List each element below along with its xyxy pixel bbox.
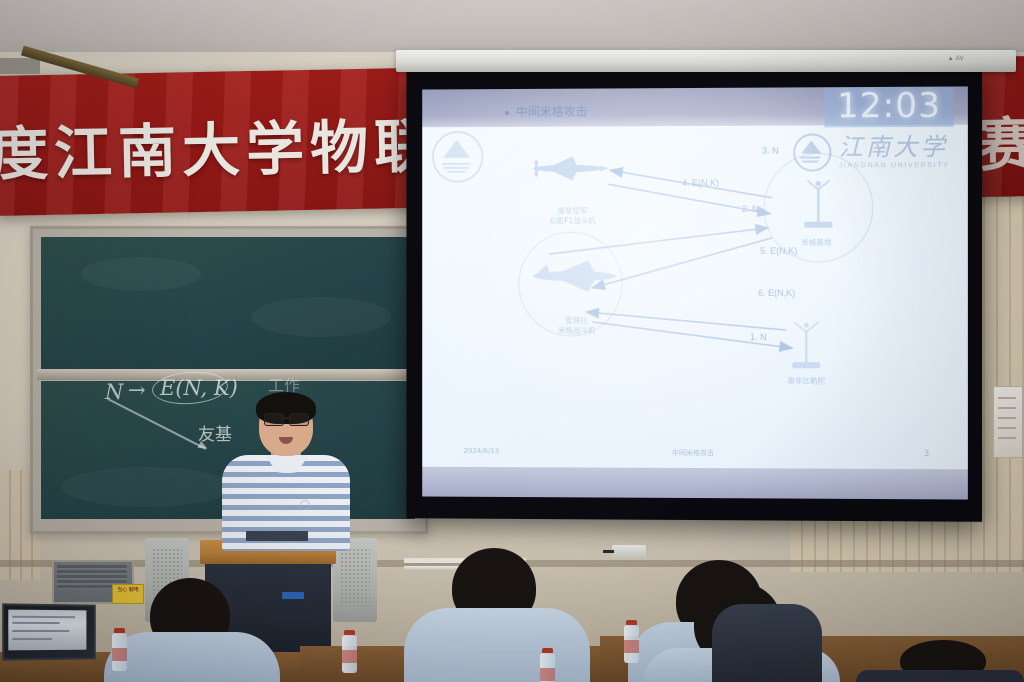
- edge-label-1: 1. N: [750, 332, 767, 342]
- slide-bottom-band: [422, 467, 968, 500]
- node-label-mig: 安哥拉 米格战斗机: [531, 316, 622, 336]
- node-label-tower-safaf: 南非比勒陀: [760, 376, 853, 386]
- university-name-en: JIANGNAN UNIVERSITY: [839, 162, 950, 169]
- slide-footer: 2024/6/13 中间米格攻击 3: [422, 447, 968, 465]
- blackboard-panel-top: [41, 237, 415, 369]
- slide-bullet-text: 中间米格攻击: [516, 105, 587, 119]
- wall-control-panel: [993, 386, 1023, 458]
- slide-footer-title: 中间米格攻击: [672, 448, 714, 458]
- slide-bullet-heading: 中间米格攻击: [505, 103, 587, 120]
- jiangnan-emblem-icon: [793, 133, 831, 171]
- slide-page-number: 3: [924, 449, 930, 459]
- warning-sign: 当心 触电: [112, 584, 144, 604]
- node-label-mirage: 南非空军 幻影F1战斗机: [527, 206, 618, 226]
- wall-mounted-device: [612, 545, 646, 558]
- housing-brand-icon: ▲ AV: [948, 56, 964, 62]
- podium-monitor[interactable]: [246, 531, 308, 541]
- projector-screen: 12:03 江南大学 JIANGNAN UNIVERSITY 中间米格攻击: [406, 66, 982, 522]
- projector-screen-housing: ▲ AV: [396, 50, 1016, 72]
- laptop-screen-content: [8, 610, 86, 651]
- audience-laptop[interactable]: [2, 603, 96, 660]
- slide-footer-date: 2024/6/13: [464, 447, 499, 455]
- banner-text-right-fragment: 赛: [977, 97, 1024, 182]
- jiangnan-emblem-icon: [432, 131, 483, 183]
- edge-label-2: 2. N: [742, 204, 759, 214]
- speaker-glasses-icon: [264, 413, 309, 424]
- node-label-tower-mig: 米格基地: [776, 238, 856, 248]
- projected-slide: 12:03 江南大学 JIANGNAN UNIVERSITY 中间米格攻击: [422, 86, 968, 499]
- university-logo: 江南大学 JIANGNAN UNIVERSITY: [793, 133, 949, 172]
- clock-time: 12:03: [837, 86, 941, 126]
- edge-label-4: 4. E(N,K): [682, 178, 719, 188]
- chalk-ledge: [37, 369, 419, 380]
- edge-label-6: 6. E(N,K): [758, 288, 795, 298]
- speaker-shirt-logo: [300, 500, 310, 510]
- banner-mount: [0, 58, 40, 74]
- university-name-cn: 江南大学: [839, 135, 950, 160]
- podium-led-display: [282, 592, 304, 599]
- lecture-hall-photo: 度江南大学物联网工 赛 N → E(N, K) 友基 工作 ▲ AV 12:03: [0, 0, 1024, 682]
- edge-label-3: 3. N: [762, 146, 779, 156]
- bullet-dot-icon: [505, 110, 509, 114]
- watermark-logo: [432, 131, 483, 183]
- clock-overlay: 12:03: [824, 86, 953, 127]
